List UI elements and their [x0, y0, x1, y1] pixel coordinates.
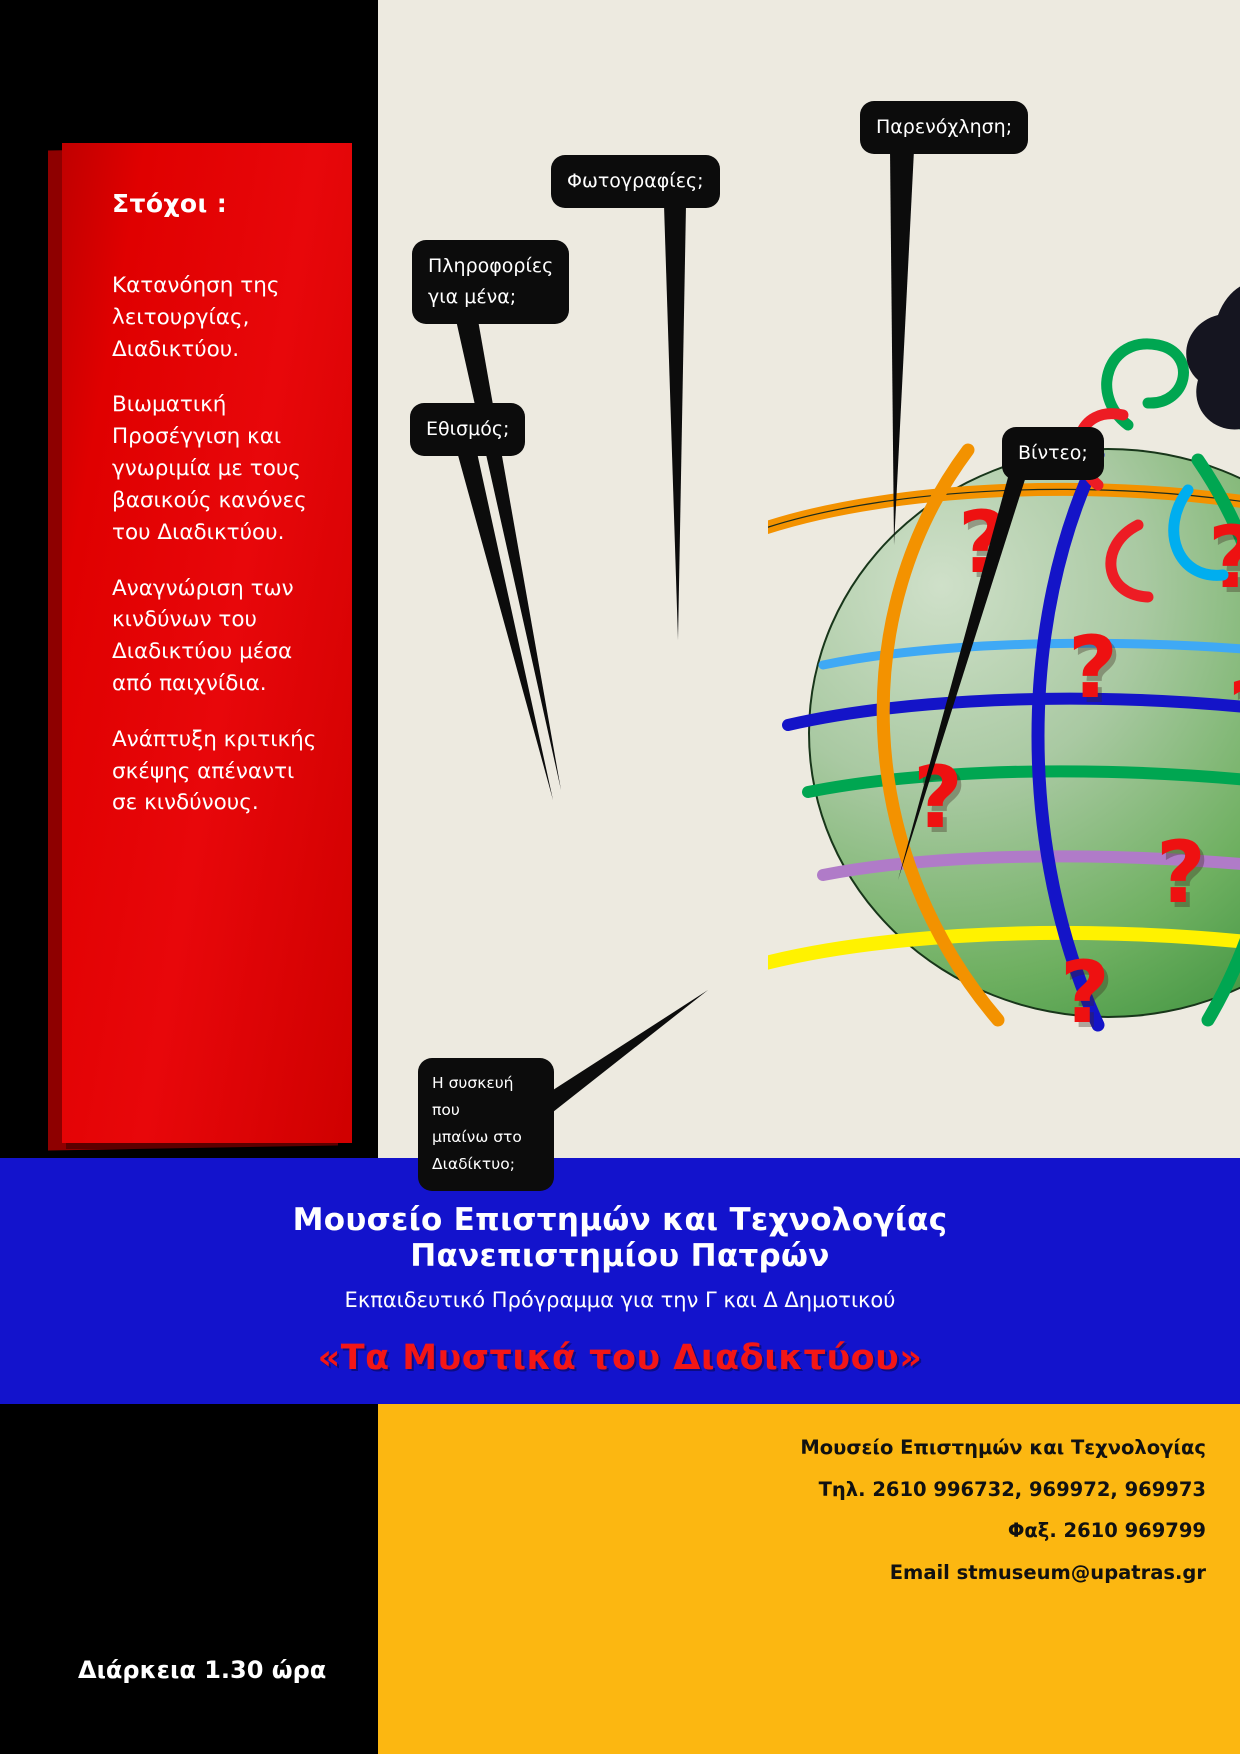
- contact-line-fax: Φαξ. 2610 969799: [378, 1499, 1240, 1541]
- hair-tuft-graphic: [1186, 281, 1240, 505]
- objectives-title: Στόχοι :: [112, 189, 318, 218]
- poster-root: ? ? ? ? ? ? ? Παρενόχληση; Φωτογραφίες; …: [0, 0, 1240, 1754]
- bubble-vinteo[interactable]: Βίντεο;: [1002, 427, 1104, 480]
- question-mark-icon: ?: [1156, 830, 1206, 916]
- question-mark-icon: ?: [1060, 950, 1110, 1036]
- illustration-panel: ? ? ? ? ? ? ?: [378, 0, 1240, 1158]
- bubble-fotografies[interactable]: Φωτογραφίες;: [551, 155, 720, 208]
- objective-item: Αναγνώριση των κινδύνων του Διαδικτύου μ…: [112, 573, 318, 700]
- bubble-plirofories[interactable]: Πληροφορίες για μένα;: [412, 240, 569, 324]
- organization-name-line1: Μουσείο Επιστημών και Τεχνολογίας: [0, 1158, 1240, 1238]
- objective-item: Βιωματική Προσέγγιση και γνωριμία με του…: [112, 389, 318, 548]
- objective-item: Ανάπτυξη κριτικής σκέψης απέναντι σε κιν…: [112, 724, 318, 819]
- bubble-parenochlisi[interactable]: Παρενόχληση;: [860, 101, 1028, 154]
- bubble-ethismos[interactable]: Εθισμός;: [410, 403, 525, 456]
- objective-item: Κατανόηση της λειτουργίας, Διαδικτύου.: [112, 270, 318, 365]
- contact-line-museum: Μουσείο Επιστημών και Τεχνολογίας: [378, 1404, 1240, 1458]
- contact-line-email: Email stmuseum@upatras.gr: [378, 1541, 1240, 1583]
- question-mark-icon: ?: [913, 755, 963, 841]
- question-mark-icon: ?: [1228, 670, 1240, 756]
- duration-label: Διάρκεια 1.30 ώρα: [78, 1656, 326, 1684]
- contact-box: Μουσείο Επιστημών και Τεχνολογίας Τηλ. 2…: [378, 1404, 1240, 1754]
- question-mark-icon: ?: [958, 500, 1008, 586]
- bubble-syskevi[interactable]: Η συσκευή που μπαίνω στο Διαδίκτυο;: [418, 1058, 554, 1191]
- organization-name-line2: Πανεπιστημίου Πατρών: [0, 1238, 1240, 1274]
- question-mark-icon: ?: [1068, 625, 1118, 711]
- objectives-card: Στόχοι : Κατανόηση της λειτουργίας, Διαδ…: [62, 143, 352, 1143]
- footer-band: Μουσείο Επιστημών και Τεχνολογίας Πανεπι…: [0, 1158, 1240, 1404]
- program-title: «Τα Μυστικά του Διαδικτύου»: [0, 1338, 1240, 1378]
- contact-line-phone: Τηλ. 2610 996732, 969972, 969973: [378, 1458, 1240, 1500]
- program-subtitle: Εκπαιδευτικό Πρόγραμμα για την Γ και Δ Δ…: [0, 1288, 1240, 1312]
